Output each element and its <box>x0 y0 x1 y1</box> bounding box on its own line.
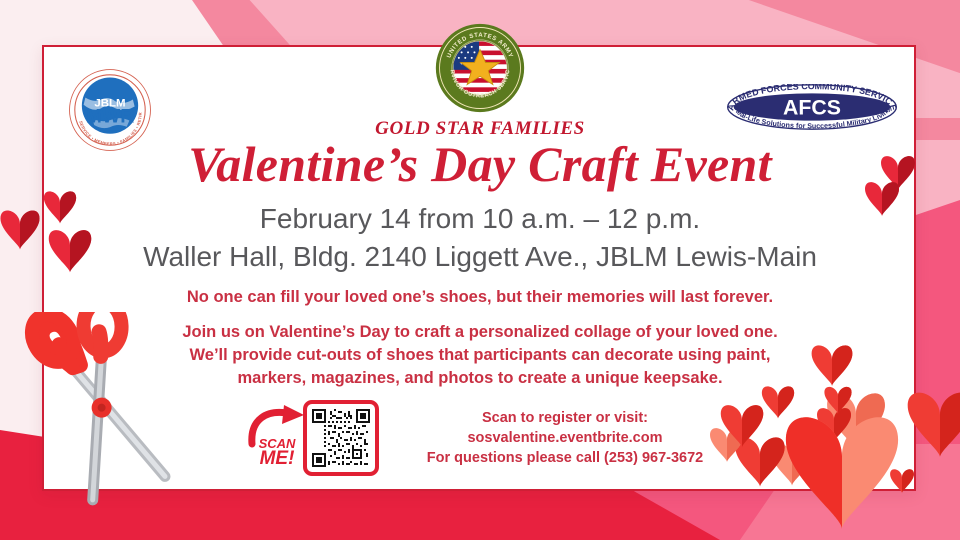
heart-shape <box>908 393 960 457</box>
heart-shape <box>786 417 898 529</box>
heart-shape <box>890 469 914 493</box>
valentines-craft-event-flyer: JBLM MWR SERVICE • MEMBERS • FAMILIES • … <box>0 0 960 540</box>
heart-shape <box>812 345 853 386</box>
heart-shape <box>762 386 794 418</box>
heart-shape <box>865 182 899 216</box>
decorative-hearts-right <box>0 0 960 540</box>
